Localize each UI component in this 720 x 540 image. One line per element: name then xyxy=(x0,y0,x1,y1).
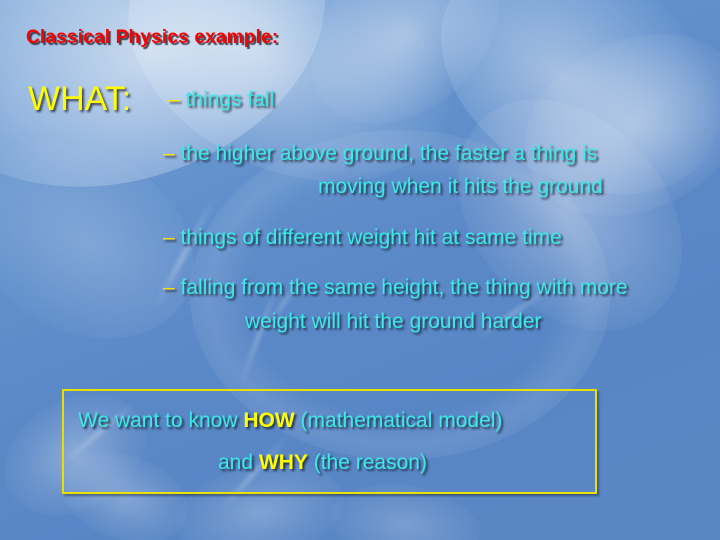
bullet-dash: – xyxy=(163,142,175,165)
bullet-item: – falling from the same height, the thin… xyxy=(163,276,628,300)
bullet-item: – things fall xyxy=(168,88,274,112)
callout-keyword-why: WHY xyxy=(259,451,308,474)
bullet-text: the higher above ground, the faster a th… xyxy=(175,142,598,165)
callout-line-1: We want to know HOW (mathematical model) xyxy=(78,409,502,433)
presentation-slide: Classical Physics example: WHAT: – thing… xyxy=(0,0,720,540)
bullet-continuation: weight will hit the ground harder xyxy=(245,310,542,334)
callout-text-post: (mathematical model) xyxy=(295,409,503,432)
callout-box xyxy=(62,389,597,494)
callout-line-2: and WHY (the reason) xyxy=(218,451,427,475)
bullet-text: things fall xyxy=(180,88,275,111)
bullet-dash: – xyxy=(163,226,175,249)
bullet-text: falling from the same height, the thing … xyxy=(175,276,628,299)
callout-text-pre: and xyxy=(218,451,259,474)
bullet-continuation: moving when it hits the ground xyxy=(318,175,603,199)
bullet-text: things of different weight hit at same t… xyxy=(175,226,562,249)
callout-keyword-how: HOW xyxy=(243,409,294,432)
bullet-item: – things of different weight hit at same… xyxy=(163,226,562,250)
bullet-dash: – xyxy=(163,276,175,299)
bullet-item: – the higher above ground, the faster a … xyxy=(163,142,597,166)
callout-text-post: (the reason) xyxy=(308,451,427,474)
slide-title: Classical Physics example: xyxy=(26,27,278,49)
slide-content: Classical Physics example: WHAT: – thing… xyxy=(0,0,720,540)
callout-text-pre: We want to know xyxy=(78,409,243,432)
what-label: WHAT: xyxy=(28,80,131,119)
bullet-dash: – xyxy=(168,88,180,111)
